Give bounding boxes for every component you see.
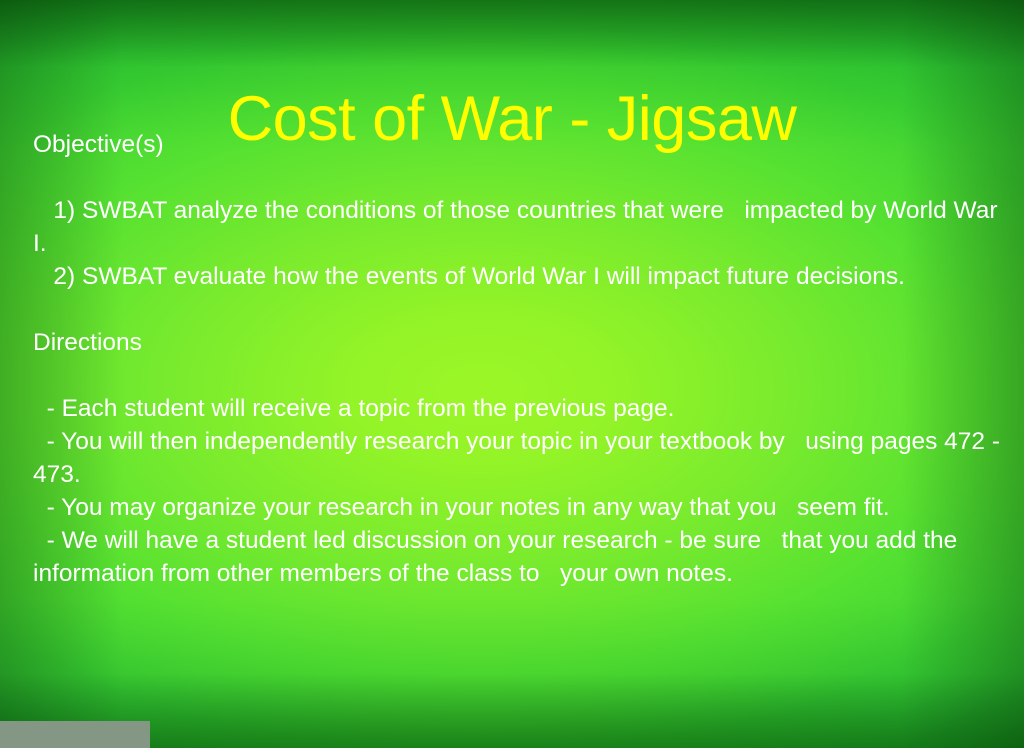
objective-item-1: 1) SWBAT analyze the conditions of those… bbox=[33, 194, 1011, 260]
bottom-left-corner-block bbox=[0, 721, 150, 748]
direction-item-1: - Each student will receive a topic from… bbox=[33, 392, 1011, 425]
spacer-after-objectives-heading bbox=[33, 161, 1011, 194]
direction-item-2: - You will then independently research y… bbox=[33, 425, 1011, 491]
direction-item-3: - You may organize your research in your… bbox=[33, 491, 1011, 524]
spacer-before-directions bbox=[33, 293, 1011, 326]
objective-item-2: 2) SWBAT evaluate how the events of Worl… bbox=[33, 260, 1011, 293]
spacer-after-directions-heading bbox=[33, 359, 1011, 392]
direction-item-4: - We will have a student led discussion … bbox=[33, 524, 1011, 590]
slide-body: Objective(s) 1) SWBAT analyze the condit… bbox=[33, 128, 1011, 590]
presentation-slide: Cost of War - Jigsaw Objective(s) 1) SWB… bbox=[0, 0, 1024, 748]
objectives-heading: Objective(s) bbox=[33, 128, 1011, 161]
directions-heading: Directions bbox=[33, 326, 1011, 359]
